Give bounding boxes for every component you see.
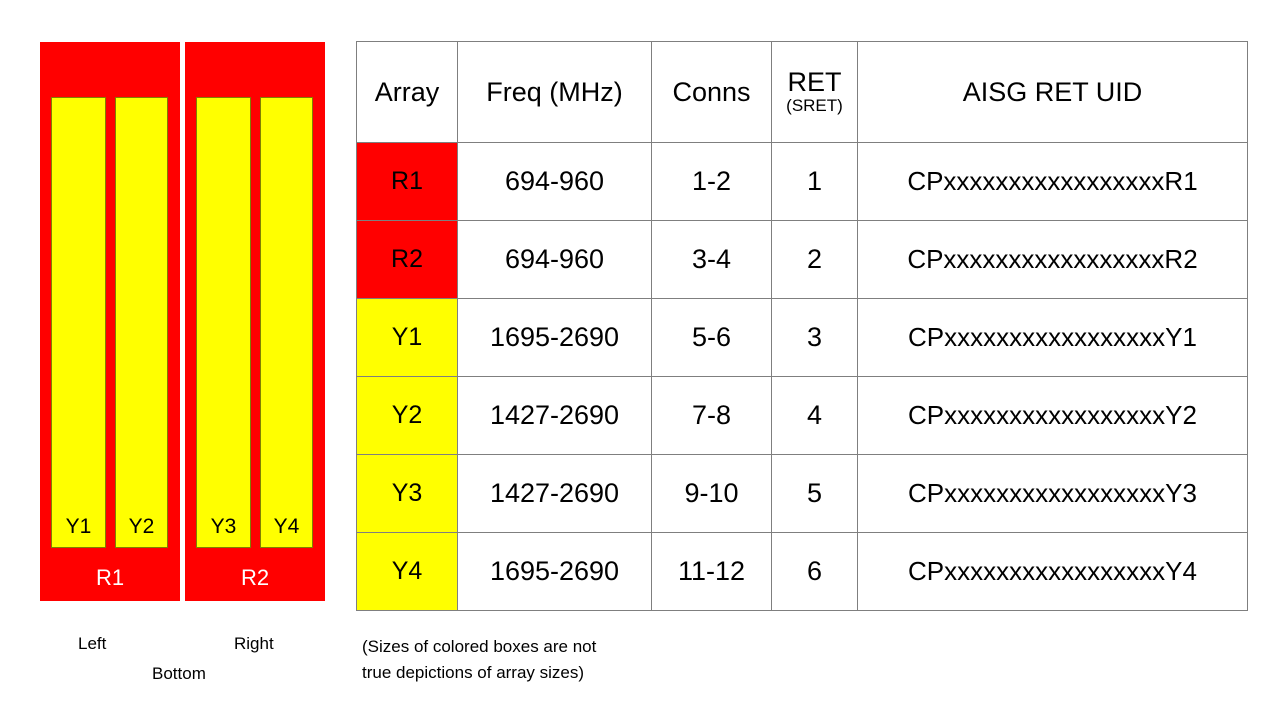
table-row: Y3 1427-2690 9-10 5 CPxxxxxxxxxxxxxxxxxY… bbox=[357, 455, 1248, 533]
cell-uid: CPxxxxxxxxxxxxxxxxxR1 bbox=[858, 143, 1248, 221]
cell-array: Y4 bbox=[357, 533, 458, 611]
table-footnote-line-2: true depictions of array sizes) bbox=[362, 660, 782, 686]
ret-assignment-table: Array Freq (MHz) Conns RET (SRET) AISG R… bbox=[356, 41, 1248, 611]
cell-array: R1 bbox=[357, 143, 458, 221]
column-header-ret-label: RET bbox=[788, 67, 842, 97]
cell-ret: 2 bbox=[772, 221, 858, 299]
cell-array: Y1 bbox=[357, 299, 458, 377]
table-footnote-line-1: (Sizes of colored boxes are not bbox=[362, 634, 782, 660]
table-row: Y2 1427-2690 7-8 4 CPxxxxxxxxxxxxxxxxxY2 bbox=[357, 377, 1248, 455]
yellow-array-bar-y2: Y2 bbox=[115, 97, 168, 548]
column-header-ret: RET (SRET) bbox=[772, 42, 858, 143]
cell-ret: 3 bbox=[772, 299, 858, 377]
table-header-row: Array Freq (MHz) Conns RET (SRET) AISG R… bbox=[357, 42, 1248, 143]
cell-uid: CPxxxxxxxxxxxxxxxxxY2 bbox=[858, 377, 1248, 455]
bar-label-y3: Y3 bbox=[197, 516, 250, 537]
cell-freq: 694-960 bbox=[458, 221, 652, 299]
table-row: Y4 1695-2690 11-12 6 CPxxxxxxxxxxxxxxxxx… bbox=[357, 533, 1248, 611]
bar-label-y4: Y4 bbox=[261, 516, 312, 537]
cell-conns: 7-8 bbox=[652, 377, 772, 455]
cell-conns: 9-10 bbox=[652, 455, 772, 533]
column-header-freq: Freq (MHz) bbox=[458, 42, 652, 143]
cell-conns: 11-12 bbox=[652, 533, 772, 611]
column-header-conns: Conns bbox=[652, 42, 772, 143]
table-footnote: (Sizes of colored boxes are not true dep… bbox=[362, 634, 782, 687]
yellow-array-bar-y3: Y3 bbox=[196, 97, 251, 548]
bar-label-y1: Y1 bbox=[52, 516, 105, 537]
cell-conns: 3-4 bbox=[652, 221, 772, 299]
column-header-uid-label: AISG RET UID bbox=[963, 77, 1143, 107]
column-header-ret-sublabel: (SRET) bbox=[772, 97, 857, 116]
cell-array: R2 bbox=[357, 221, 458, 299]
bar-label-y2: Y2 bbox=[116, 516, 167, 537]
cell-ret: 4 bbox=[772, 377, 858, 455]
cell-freq: 1695-2690 bbox=[458, 299, 652, 377]
cell-freq: 1695-2690 bbox=[458, 533, 652, 611]
table-row: R1 694-960 1-2 1 CPxxxxxxxxxxxxxxxxxR1 bbox=[357, 143, 1248, 221]
cell-ret: 1 bbox=[772, 143, 858, 221]
cell-freq: 1427-2690 bbox=[458, 377, 652, 455]
yellow-array-bar-y4: Y4 bbox=[260, 97, 313, 548]
orientation-label-bottom: Bottom bbox=[152, 664, 206, 684]
cell-ret: 6 bbox=[772, 533, 858, 611]
cell-conns: 5-6 bbox=[652, 299, 772, 377]
cell-conns: 1-2 bbox=[652, 143, 772, 221]
cell-uid: CPxxxxxxxxxxxxxxxxxR2 bbox=[858, 221, 1248, 299]
table-row: R2 694-960 3-4 2 CPxxxxxxxxxxxxxxxxxR2 bbox=[357, 221, 1248, 299]
column-header-conns-label: Conns bbox=[672, 77, 750, 107]
cell-freq: 694-960 bbox=[458, 143, 652, 221]
column-header-freq-label: Freq (MHz) bbox=[486, 77, 623, 107]
cell-ret: 5 bbox=[772, 455, 858, 533]
cell-uid: CPxxxxxxxxxxxxxxxxxY1 bbox=[858, 299, 1248, 377]
column-header-array: Array bbox=[357, 42, 458, 143]
yellow-array-bar-y1: Y1 bbox=[51, 97, 106, 548]
orientation-label-left: Left bbox=[78, 634, 106, 654]
panel-label-r1: R1 bbox=[40, 567, 180, 589]
cell-uid: CPxxxxxxxxxxxxxxxxxY3 bbox=[858, 455, 1248, 533]
ret-table-container: Array Freq (MHz) Conns RET (SRET) AISG R… bbox=[356, 41, 1247, 610]
cell-uid: CPxxxxxxxxxxxxxxxxxY4 bbox=[858, 533, 1248, 611]
antenna-array-diagram: R1 R2 Y1 Y2 Y3 Y4 Left Right Bottom bbox=[0, 0, 350, 720]
panel-label-r2: R2 bbox=[185, 567, 325, 589]
table-row: Y1 1695-2690 5-6 3 CPxxxxxxxxxxxxxxxxxY1 bbox=[357, 299, 1248, 377]
column-header-uid: AISG RET UID bbox=[858, 42, 1248, 143]
cell-array: Y3 bbox=[357, 455, 458, 533]
cell-freq: 1427-2690 bbox=[458, 455, 652, 533]
column-header-array-label: Array bbox=[375, 77, 440, 107]
orientation-label-right: Right bbox=[234, 634, 274, 654]
cell-array: Y2 bbox=[357, 377, 458, 455]
